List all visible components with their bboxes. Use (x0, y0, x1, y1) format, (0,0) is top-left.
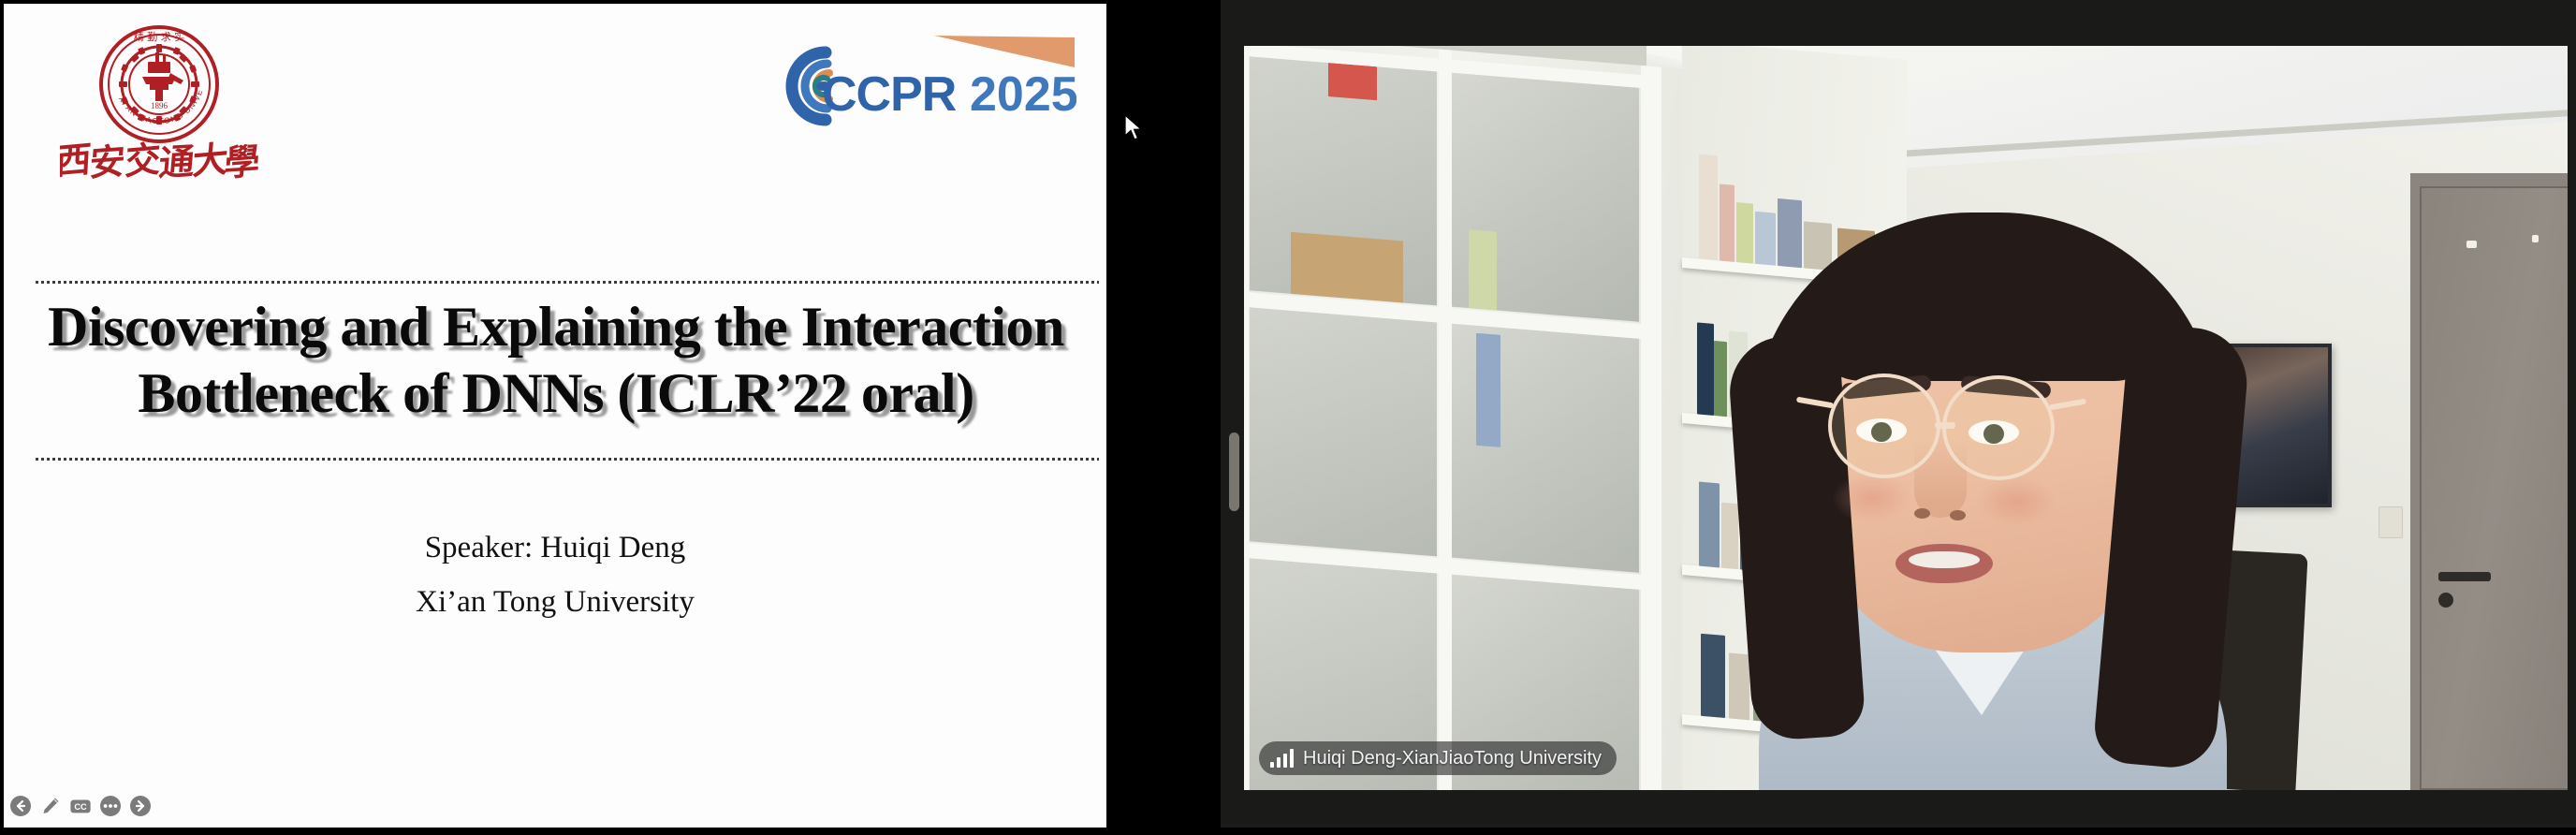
divider-top (36, 281, 1099, 284)
speaker-affiliation-line: Xi’an Tong University (4, 587, 1106, 618)
screen: 1896 精 勤 求 实 XI'AN JIAOTONG UNIVERSITY 西 (0, 0, 2576, 835)
svg-text:CC: CC (74, 802, 87, 812)
light-switch (2378, 506, 2403, 538)
participant-name-text: Huiqi Deng-XianJiaoTong University (1303, 748, 1602, 769)
slide-title: Discovering and Explaining the Interacti… (32, 294, 1080, 427)
svg-text:精 勤 求 实: 精 勤 求 实 (134, 30, 185, 43)
participant-video-tile[interactable]: Huiqi Deng-XianJiaoTong University (1244, 46, 2568, 790)
panel-resize-handle[interactable] (1229, 432, 1239, 511)
slide-title-line-2: Bottleneck of DNNs (ICLR’22 oral) (32, 360, 1080, 427)
previous-slide-button[interactable] (9, 795, 32, 817)
svg-text:1896: 1896 (151, 101, 168, 110)
shared-screen-region: 1896 精 勤 求 实 XI'AN JIAOTONG UNIVERSITY 西 (0, 0, 1110, 835)
presentation-slide[interactable]: 1896 精 勤 求 实 XI'AN JIAOTONG UNIVERSITY 西 (4, 4, 1106, 828)
divider-bottom (36, 458, 1099, 461)
slide-title-line-1: Discovering and Explaining the Interacti… (32, 294, 1080, 360)
speaker-info: Speaker: Huiqi Deng Xi’an Tong Universit… (4, 533, 1106, 618)
svg-text:安: 安 (88, 141, 126, 185)
svg-text:交: 交 (124, 139, 162, 183)
bookcase-glass-doors (1244, 46, 1721, 790)
slide-toolbar: CC (9, 792, 152, 820)
svg-text:學: 學 (223, 141, 261, 185)
mouse-pointer-icon (1123, 114, 1144, 142)
participant-name-label: Huiqi Deng-XianJiaoTong University (1259, 741, 1617, 775)
speaker-name-line: Speaker: Huiqi Deng (4, 533, 1106, 564)
svg-text:通: 通 (157, 141, 197, 184)
participant-figure (1731, 186, 2255, 790)
door (2410, 173, 2568, 790)
university-wordmark-cn: 西 安 交 通 大 學 (60, 125, 266, 187)
video-panel: Huiqi Deng-XianJiaoTong University (1221, 0, 2576, 835)
closed-captions-button[interactable]: CC (69, 795, 92, 817)
more-options-button[interactable] (99, 795, 122, 817)
svg-text:CCPR: CCPR (822, 67, 957, 122)
signal-bars-icon (1270, 749, 1294, 768)
bottom-black-bar (0, 828, 2576, 835)
next-slide-button[interactable] (129, 795, 152, 817)
conference-logo: CCPR 2025 (768, 30, 1076, 135)
university-logo: 1896 精 勤 求 实 XI'AN JIAOTONG UNIVERSITY 西 (60, 24, 266, 183)
svg-text:西: 西 (60, 139, 93, 183)
annotate-button[interactable] (39, 795, 62, 817)
svg-text:2025: 2025 (970, 67, 1076, 122)
